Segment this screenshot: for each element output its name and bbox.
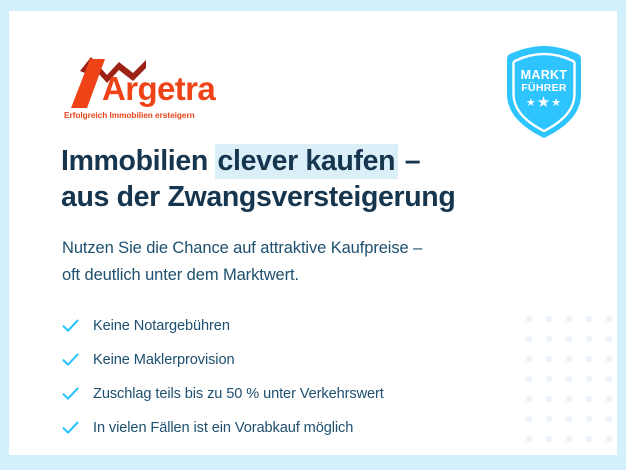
badge-stars: ★★★ xyxy=(501,95,587,110)
badge-line-1: MARKT xyxy=(501,68,587,82)
list-item-label: Zuschlag teils bis zu 50 % unter Verkehr… xyxy=(93,387,384,402)
headline-part-1: Immobilien xyxy=(61,145,216,177)
headline-part-2: – xyxy=(397,145,420,177)
argetra-logo-mark: Argetra xyxy=(63,53,263,108)
list-item: Keine Maklerprovision xyxy=(62,343,532,377)
list-item-label: Keine Notargebühren xyxy=(93,319,230,334)
svg-text:Argetra: Argetra xyxy=(102,70,216,107)
subtitle: Nutzen Sie die Chance auf attraktive Kau… xyxy=(62,235,542,288)
benefit-list: Keine Notargebühren Keine Maklerprovisio… xyxy=(62,309,532,445)
promo-banner: Argetra Erfolgreich Immobilien ersteiger… xyxy=(0,0,626,470)
headline-highlight: clever kaufen xyxy=(215,144,399,179)
list-item: In vielen Fällen ist ein Vorabkauf mögli… xyxy=(62,411,532,445)
banner-card: Argetra Erfolgreich Immobilien ersteiger… xyxy=(9,11,617,455)
logo-tagline: Erfolgreich Immobilien ersteigern xyxy=(64,110,195,120)
check-icon xyxy=(62,420,79,436)
subtitle-line-2: oft deutlich unter dem Marktwert. xyxy=(62,266,299,284)
badge-line-2: FÜHRER xyxy=(501,82,587,94)
dot-grid-decoration xyxy=(517,307,617,455)
list-item-label: Keine Maklerprovision xyxy=(93,353,234,368)
list-item: Keine Notargebühren xyxy=(62,309,532,343)
check-icon xyxy=(62,318,79,334)
check-icon xyxy=(62,352,79,368)
list-item: Zuschlag teils bis zu 50 % unter Verkehr… xyxy=(62,377,532,411)
page-title: Immobilien clever kaufen – aus der Zwang… xyxy=(61,144,561,216)
argetra-logo[interactable]: Argetra Erfolgreich Immobilien ersteiger… xyxy=(63,53,263,121)
check-icon xyxy=(62,386,79,402)
list-item-label: In vielen Fällen ist ein Vorabkauf mögli… xyxy=(93,421,353,436)
headline-line-2: aus der Zwangsversteigerung xyxy=(61,181,455,213)
subtitle-line-1: Nutzen Sie die Chance auf attraktive Kau… xyxy=(62,239,422,257)
market-leader-badge: MARKT FÜHRER ★★★ xyxy=(501,44,587,140)
